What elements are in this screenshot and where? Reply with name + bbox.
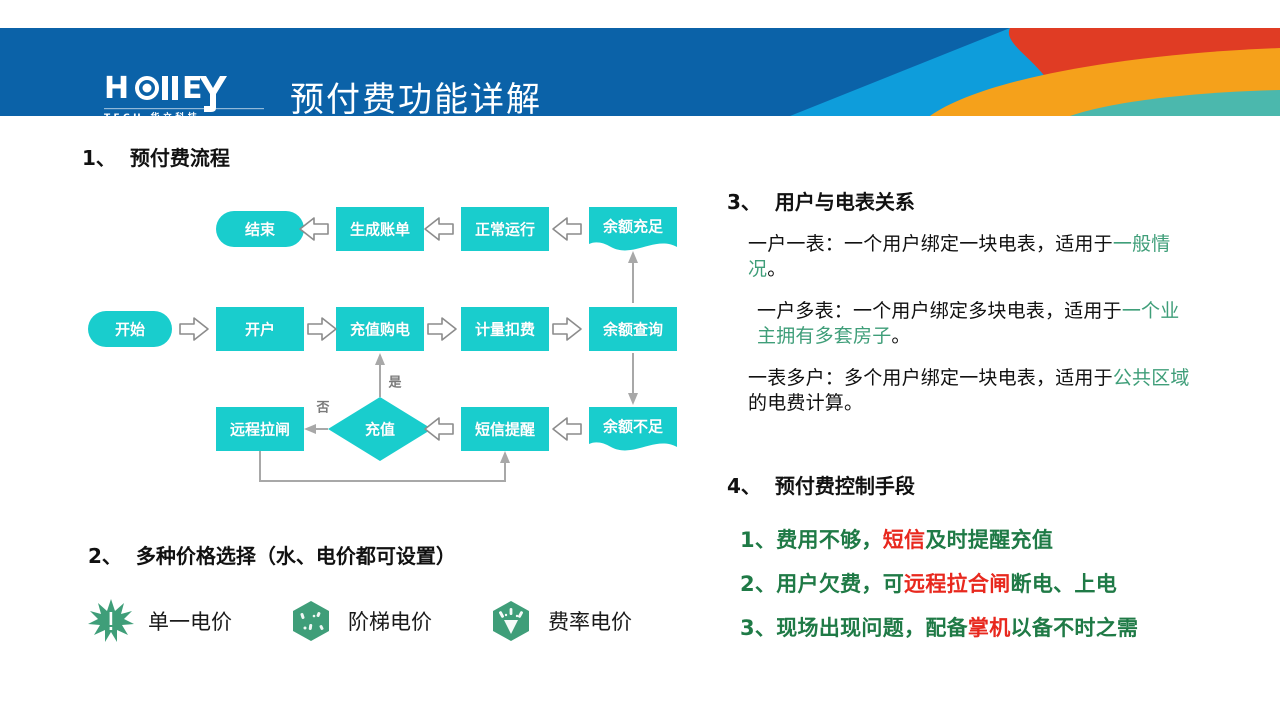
control-number: 3、 (740, 616, 776, 640)
logo-mark: H E TECH 华立科技 (104, 70, 264, 116)
svg-text:E: E (182, 71, 202, 106)
page-title: 预付费功能详解 (290, 72, 542, 116)
node-balance-shortage (589, 407, 677, 450)
price-option-rate[interactable]: 费率电价 (488, 592, 632, 650)
arrow-normal-to-bill (425, 218, 453, 240)
slide-root: H E TECH 华立科技 预付费功能详解 1、预付费流程 (0, 0, 1280, 720)
arrow-bill-to-end (300, 218, 328, 240)
relation-tail: 。 (767, 258, 786, 280)
relation-tail: 。 (891, 325, 910, 347)
control-number: 1、 (740, 528, 776, 552)
control-pre: 费用不够， (776, 528, 883, 552)
control-item: 2、用户欠费，可远程拉合闸断电、上电 (740, 562, 1220, 606)
header-banner: H E TECH 华立科技 预付费功能详解 (0, 28, 1280, 116)
node-open-account (216, 307, 304, 351)
section-4-heading: 4、预付费控制手段 (727, 470, 915, 499)
relation-item: 一户一表：一个用户绑定一块电表，适用于一般情况。 (748, 232, 1198, 282)
svg-text:TECH 华立科技: TECH 华立科技 (104, 111, 200, 116)
control-highlight: 掌机 (968, 616, 1011, 640)
control-pre: 现场出现问题，配备 (776, 616, 968, 640)
node-normal (461, 207, 549, 251)
node-balance-enough (589, 207, 677, 250)
section-3-number: 3、 (727, 190, 761, 214)
section-3-heading: 3、用户与电表关系 (727, 186, 915, 215)
arrow-recharge-to-metering (428, 318, 456, 340)
node-metering (461, 307, 549, 351)
control-number: 2、 (740, 572, 776, 596)
arrow-enough-to-normal (553, 218, 581, 240)
node-bill (336, 207, 424, 251)
relation-tail: 的电费计算。 (748, 392, 863, 414)
edge-label-no: 否 (316, 397, 329, 416)
section-3-title: 用户与电表关系 (775, 190, 915, 214)
arrow-query-to-enough (628, 251, 638, 303)
control-pre: 用户欠费，可 (776, 572, 904, 596)
arrow-sms-to-topup (553, 418, 581, 440)
node-topup-decision (328, 397, 432, 461)
relation-highlight: 公共区域 (1113, 367, 1190, 389)
relation-lead: 一户多表：一个用户绑定多块电表，适用于 (757, 300, 1122, 322)
section-4-title: 预付费控制手段 (775, 474, 915, 498)
node-balance-query (589, 307, 677, 351)
flowchart-graphic (80, 185, 700, 495)
svg-text:H: H (104, 71, 128, 106)
arrow-query-to-shortage (628, 353, 638, 405)
section-4-number: 4、 (727, 474, 761, 498)
control-highlight: 短信 (883, 528, 926, 552)
node-recharge-buy (336, 307, 424, 351)
node-start (88, 311, 172, 347)
relation-item: 一表多户：多个用户绑定一块电表，适用于公共区域的电费计算。 (748, 366, 1198, 416)
section-2-title: 多种价格选择（水、电价都可设置） (136, 544, 456, 568)
price-option-label: 单一电价 (148, 606, 232, 636)
price-option-single[interactable]: 单一电价 (88, 592, 232, 650)
arrow-shortage-to-sms (425, 418, 453, 440)
section-1-heading: 1、预付费流程 (82, 142, 230, 171)
node-remote-breaker (216, 407, 304, 451)
control-post: 断电、上电 (1011, 572, 1118, 596)
price-option-label: 阶梯电价 (348, 606, 432, 636)
prepaid-flowchart: 结束 生成账单 正常运行 余额充足 开始 开户 充值购电 计量扣费 余额查询 余… (80, 185, 700, 495)
hexagon-rate-icon (488, 598, 534, 644)
relation-item: 一户多表：一个用户绑定多块电表，适用于一个业主拥有多套房子。 (748, 299, 1198, 349)
arrow-open-to-recharge (308, 318, 336, 340)
node-end (216, 211, 304, 247)
control-item: 3、现场出现问题，配备掌机以备不时之需 (740, 606, 1220, 650)
control-item: 1、费用不够，短信及时提醒充值 (740, 518, 1220, 562)
section-1-title: 预付费流程 (130, 146, 230, 170)
section-2-heading: 2、多种价格选择（水、电价都可设置） (88, 540, 456, 569)
arrow-topup-no-to-breaker (304, 424, 328, 434)
control-measures-list: 1、费用不够，短信及时提醒充值 2、用户欠费，可远程拉合闸断电、上电 3、现场出… (740, 518, 1220, 650)
arrow-topup-yes-to-recharge (375, 353, 385, 397)
node-sms-alert (461, 407, 549, 451)
price-option-label: 费率电价 (548, 606, 632, 636)
user-meter-relation-list: 一户一表：一个用户绑定一块电表，适用于一般情况。 一户多表：一个用户绑定多块电表… (748, 232, 1198, 433)
section-2-number: 2、 (88, 544, 122, 568)
section-1-number: 1、 (82, 146, 116, 170)
arrow-metering-to-query (553, 318, 581, 340)
arrow-start-to-open (180, 318, 208, 340)
price-option-tiered[interactable]: 阶梯电价 (288, 592, 432, 650)
starburst-icon (88, 598, 134, 644)
edge-label-yes: 是 (388, 372, 401, 391)
relation-lead: 一户一表：一个用户绑定一块电表，适用于 (748, 233, 1113, 255)
relation-lead: 一表多户：多个用户绑定一块电表，适用于 (748, 367, 1113, 389)
control-post: 以备不时之需 (1011, 616, 1139, 640)
control-post: 及时提醒充值 (925, 528, 1053, 552)
holley-logo: H E TECH 华立科技 (104, 70, 264, 116)
hexagon-icon (288, 598, 334, 644)
price-options-row: 单一电价 阶梯电价 (88, 592, 688, 652)
control-highlight: 远程拉合闸 (904, 572, 1011, 596)
